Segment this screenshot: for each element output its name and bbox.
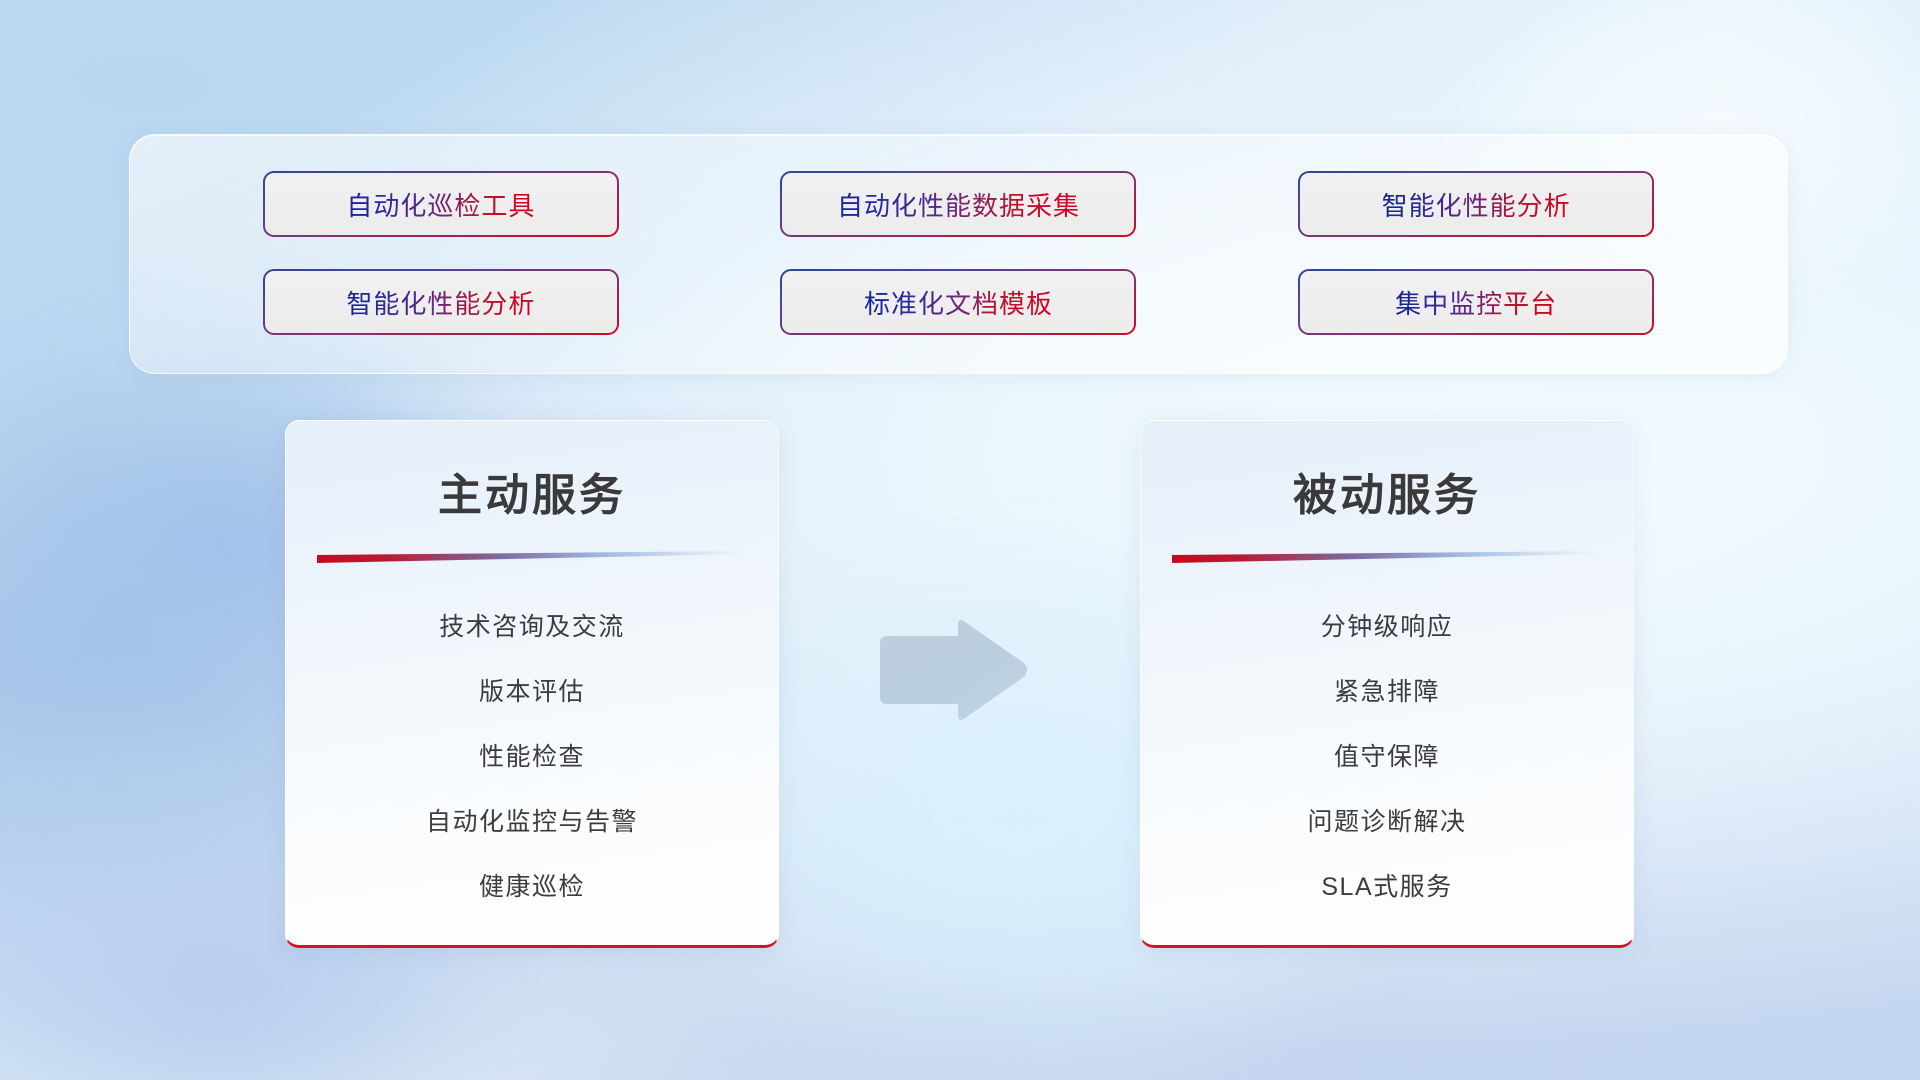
chip-surface: 自动化性能数据采集 [782,173,1134,235]
capability-chip-3[interactable]: 智能化性能分析 [1298,171,1654,237]
card-item-list: 技术咨询及交流 版本评估 性能检查 自动化监控与告警 健康巡检 [286,593,778,918]
chip-gradient-border: 自动化性能数据采集 [780,171,1136,237]
chip-gradient-border: 智能化性能分析 [263,269,619,335]
service-card-proactive: 主动服务 技术咨询及交流 版本评估 性能检查 自动化监控与告警 健康巡检 [285,420,779,948]
chip-label: 集中监控平台 [1395,284,1557,321]
chip-label: 自动化巡检工具 [346,186,535,223]
capability-chip-2[interactable]: 自动化性能数据采集 [780,171,1136,237]
chip-gradient-border: 自动化巡检工具 [263,171,619,237]
card-item-list: 分钟级响应 紧急排障 值守保障 问题诊断解决 SLA式服务 [1141,593,1633,918]
chip-label: 标准化文档模板 [864,284,1053,321]
chip-surface: 智能化性能分析 [265,271,617,333]
capability-chip-5[interactable]: 标准化文档模板 [780,269,1136,335]
capability-chip-6[interactable]: 集中监控平台 [1298,269,1654,335]
card-title: 被动服务 [1293,459,1481,523]
list-item[interactable]: 分钟级响应 [1141,593,1633,658]
list-item[interactable]: 自动化监控与告警 [286,788,778,853]
chip-surface: 自动化巡检工具 [265,173,617,235]
list-item[interactable]: 性能检查 [286,723,778,788]
chip-surface: 集中监控平台 [1300,271,1652,333]
chip-surface: 智能化性能分析 [1300,173,1652,235]
card-title-divider [317,549,747,567]
list-item[interactable]: 健康巡检 [286,853,778,918]
chip-surface: 标准化文档模板 [782,271,1134,333]
card-title: 主动服务 [438,459,626,523]
list-item[interactable]: 技术咨询及交流 [286,593,778,658]
capability-chip-1[interactable]: 自动化巡检工具 [263,171,619,237]
chip-label: 自动化性能数据采集 [837,186,1080,223]
capabilities-panel: 自动化巡检工具 自动化性能数据采集 智能化性能分析 智能化性能分析 [129,134,1788,374]
list-item[interactable]: 问题诊断解决 [1141,788,1633,853]
capability-chip-4[interactable]: 智能化性能分析 [263,269,619,335]
card-title-divider [1172,549,1602,567]
list-item[interactable]: 紧急排障 [1141,658,1633,723]
chip-label: 智能化性能分析 [1382,186,1571,223]
service-card-reactive: 被动服务 分钟级响应 紧急排障 值守保障 问题诊断解决 SLA式服务 [1140,420,1634,948]
list-item[interactable]: SLA式服务 [1141,853,1633,918]
chip-gradient-border: 标准化文档模板 [780,269,1136,335]
arrow-right-icon [872,615,1032,725]
list-item[interactable]: 值守保障 [1141,723,1633,788]
chip-gradient-border: 智能化性能分析 [1298,171,1654,237]
chip-label: 智能化性能分析 [346,284,535,321]
list-item[interactable]: 版本评估 [286,658,778,723]
capabilities-grid: 自动化巡检工具 自动化性能数据采集 智能化性能分析 智能化性能分析 [130,135,1787,373]
chip-gradient-border: 集中监控平台 [1298,269,1654,335]
